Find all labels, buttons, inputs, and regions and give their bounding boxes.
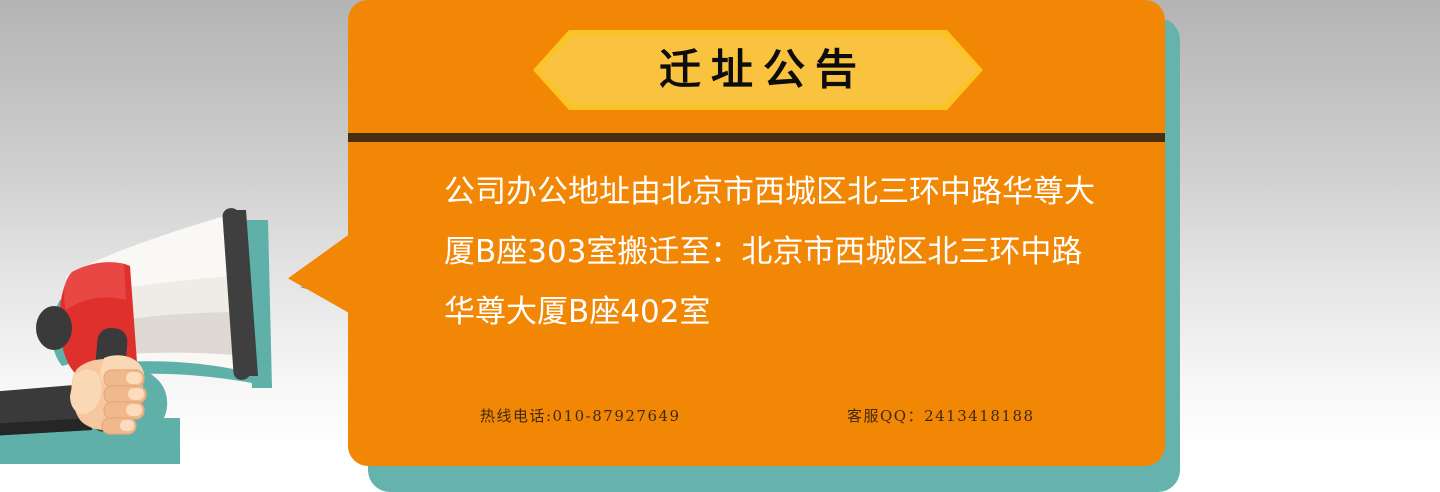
- header-divider: [348, 133, 1165, 142]
- contact-footer: 热线电话:010-87927649 客服QQ：2413418188: [444, 405, 1104, 435]
- megaphone-knob: [36, 306, 72, 350]
- announcement-body: 公司办公地址由北京市西城区北三环中路华尊大厦B座303室搬迁至：北京市西城区北三…: [444, 162, 1104, 342]
- hotline-phone: 热线电话:010-87927649: [480, 405, 681, 426]
- announcement-banner: 迁址公告 公司办公地址由北京市西城区北三环中路华尊大厦B座303室搬迁至：北京市…: [0, 0, 1440, 492]
- card-header: 迁址公告: [348, 0, 1165, 140]
- service-qq: 客服QQ：2413418188: [847, 405, 1035, 426]
- megaphone-illustration: [0, 180, 360, 492]
- title-banner: 迁址公告: [533, 30, 983, 110]
- page-title: 迁址公告: [533, 30, 983, 110]
